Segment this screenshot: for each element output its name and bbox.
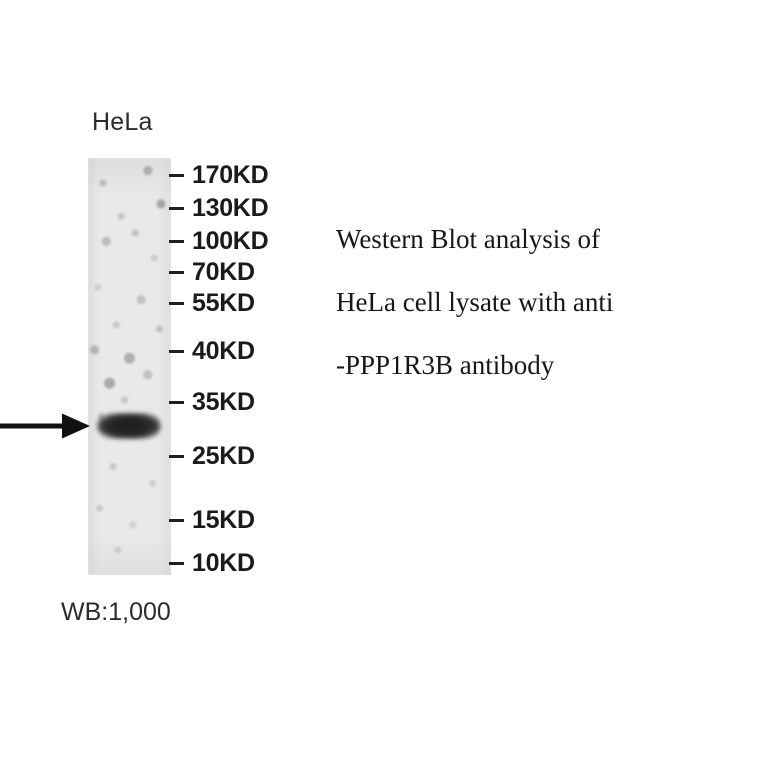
caption-line-2: HeLa cell lysate with anti <box>336 289 736 316</box>
marker-15kd: 15KD <box>169 508 255 533</box>
marker-tick-icon <box>169 302 184 305</box>
marker-label: 35KD <box>192 390 255 415</box>
marker-label: 170KD <box>192 163 268 188</box>
marker-35kd: 35KD <box>169 390 255 415</box>
marker-25kd: 25KD <box>169 444 255 469</box>
marker-tick-icon <box>169 350 184 353</box>
marker-label: 100KD <box>192 229 268 254</box>
membrane-texture <box>88 158 171 575</box>
marker-tick-icon <box>169 240 184 243</box>
marker-130kd: 130KD <box>169 196 268 221</box>
marker-label: 25KD <box>192 444 255 469</box>
marker-10kd: 10KD <box>169 551 255 576</box>
marker-label: 55KD <box>192 291 255 316</box>
marker-tick-icon <box>169 174 184 177</box>
marker-tick-icon <box>169 519 184 522</box>
marker-label: 10KD <box>192 551 255 576</box>
marker-tick-icon <box>169 207 184 210</box>
protein-band-ppp1r3b <box>97 413 161 439</box>
marker-70kd: 70KD <box>169 260 255 285</box>
marker-170kd: 170KD <box>169 163 268 188</box>
marker-label: 70KD <box>192 260 255 285</box>
western-blot-figure: HeLa 170KD 130KD 100KD 70KD 55KD 40KD 35… <box>0 0 764 764</box>
caption-line-3: -PPP1R3B antibody <box>336 352 736 379</box>
blot-lane <box>88 158 171 575</box>
marker-tick-icon <box>169 455 184 458</box>
marker-100kd: 100KD <box>169 229 268 254</box>
marker-label: 130KD <box>192 196 268 221</box>
figure-caption: Western Blot analysis of HeLa cell lysat… <box>336 226 736 379</box>
band-pointer-arrow-icon <box>0 408 92 444</box>
marker-tick-icon <box>169 271 184 274</box>
marker-label: 40KD <box>192 339 255 364</box>
lane-label-hela: HeLa <box>92 108 153 137</box>
marker-55kd: 55KD <box>169 291 255 316</box>
wb-dilution-label: WB:1,000 <box>61 598 171 627</box>
marker-tick-icon <box>169 562 184 565</box>
marker-tick-icon <box>169 401 184 404</box>
caption-line-1: Western Blot analysis of <box>336 226 736 253</box>
marker-label: 15KD <box>192 508 255 533</box>
marker-40kd: 40KD <box>169 339 255 364</box>
